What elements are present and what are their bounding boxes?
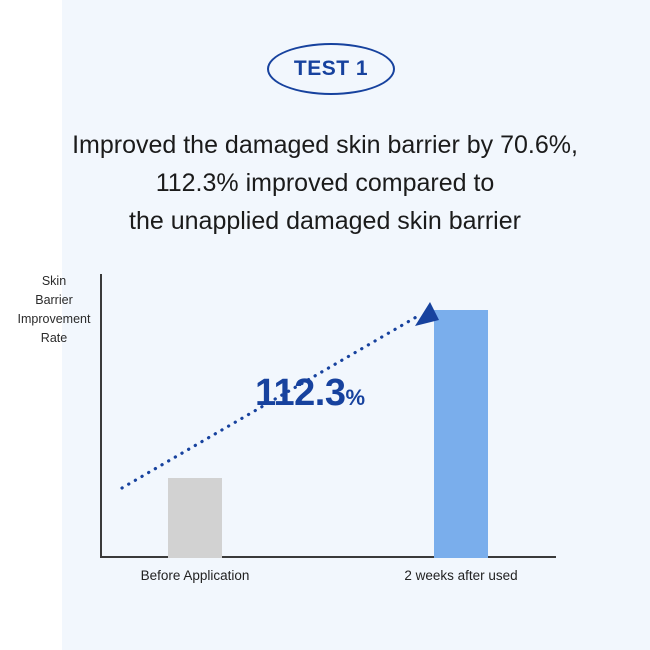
- improvement-arrow-icon: [100, 262, 556, 602]
- improvement-value: 112.3: [255, 372, 346, 414]
- y-axis-label-line-2: Barrier: [8, 291, 100, 310]
- bar-chart: Skin Barrier Improvement Rate Before App…: [0, 262, 650, 602]
- headline: Improved the damaged skin barrier by 70.…: [0, 126, 650, 240]
- test-badge-label: TEST 1: [294, 57, 368, 81]
- headline-line-2: 112.3% improved compared to: [0, 164, 650, 202]
- y-axis-label-line-1: Skin: [8, 272, 100, 291]
- test-badge: TEST 1: [267, 43, 395, 95]
- y-axis-label-line-3: Improvement: [8, 310, 100, 329]
- infographic-page: TEST 1 Improved the damaged skin barrier…: [0, 0, 650, 650]
- headline-line-1: Improved the damaged skin barrier by 70.…: [0, 126, 650, 164]
- improvement-value-callout: 112.3%: [255, 372, 365, 415]
- improvement-value-unit: %: [346, 385, 366, 410]
- y-axis-label: Skin Barrier Improvement Rate: [8, 272, 100, 348]
- headline-line-3: the unapplied damaged skin barrier: [0, 202, 650, 240]
- y-axis-label-line-4: Rate: [8, 329, 100, 348]
